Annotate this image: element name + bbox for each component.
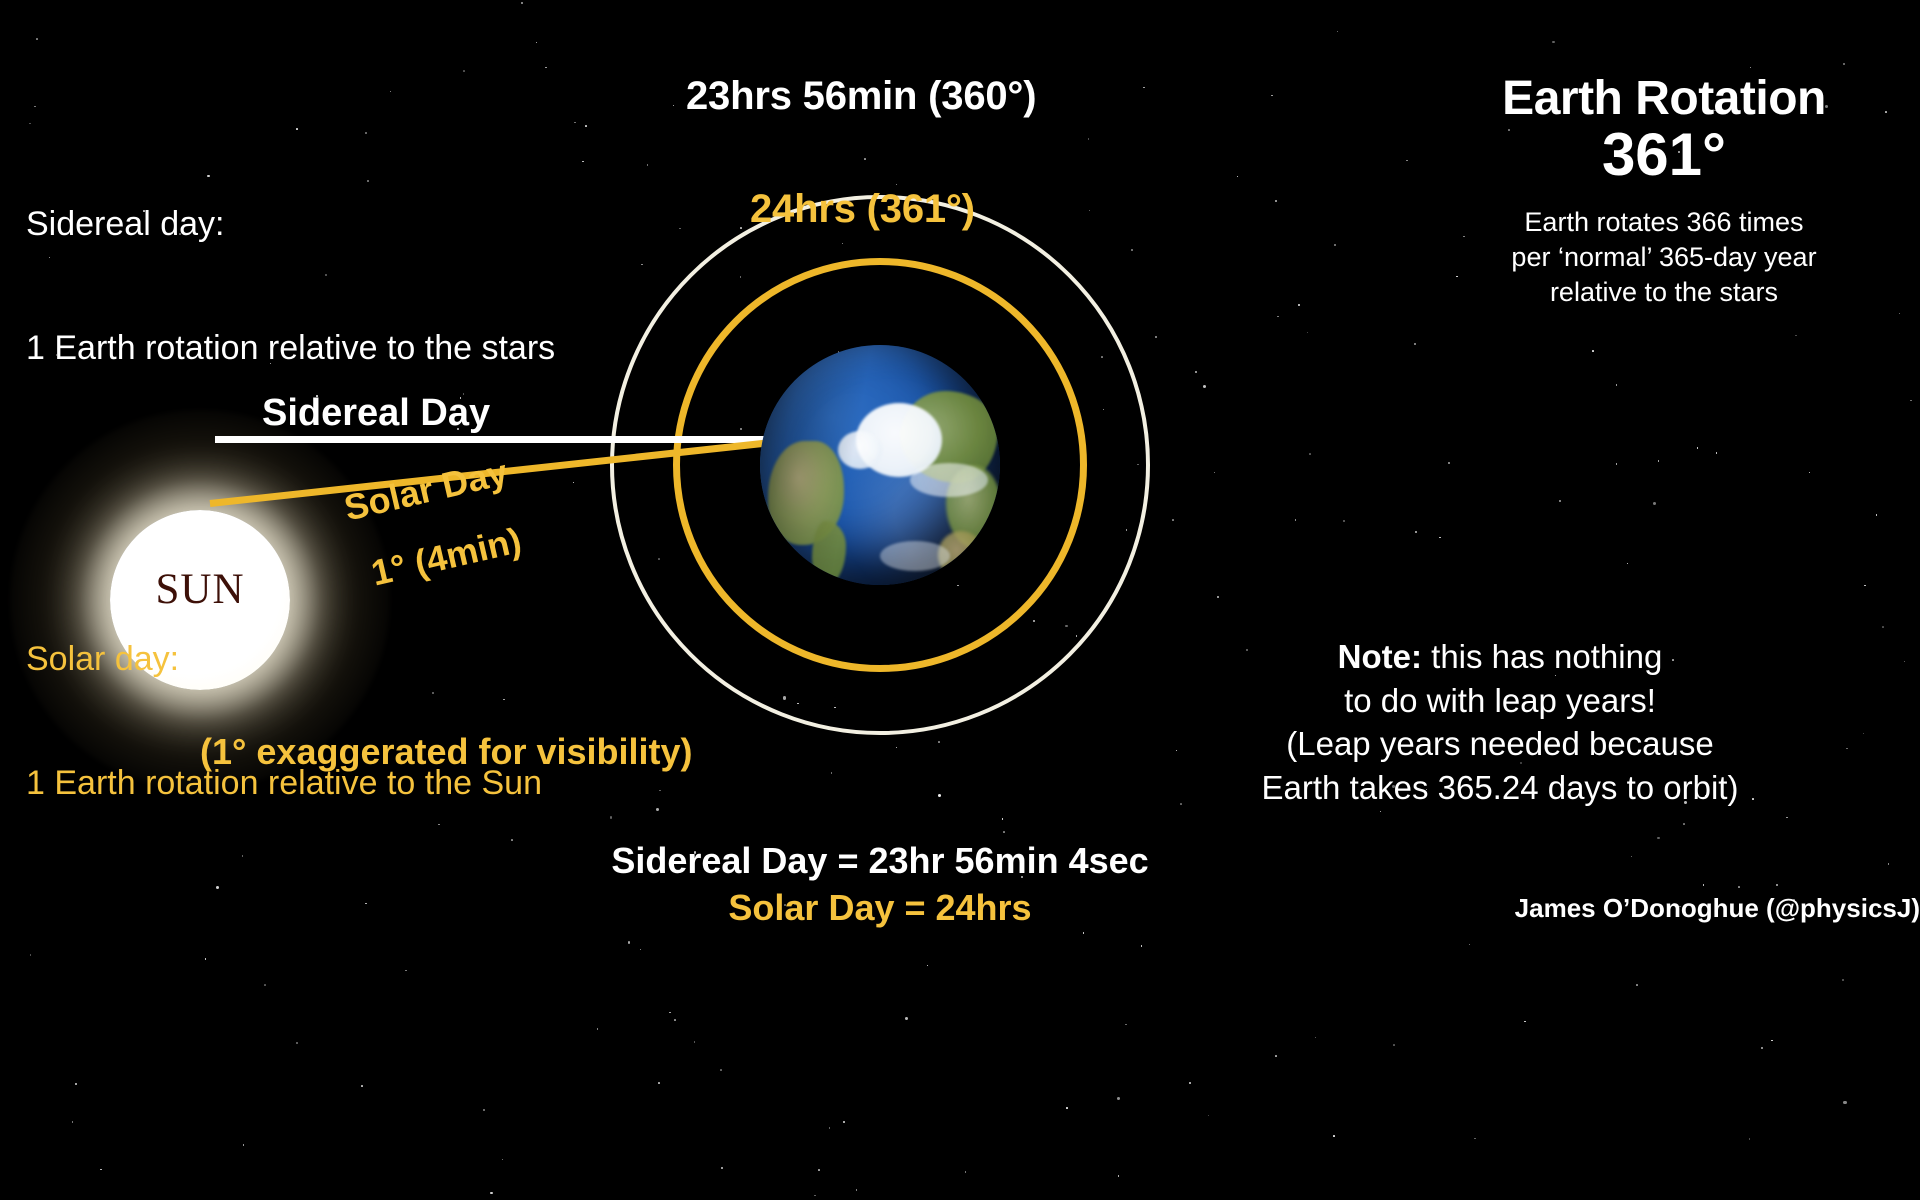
star	[1864, 585, 1866, 587]
star	[1627, 563, 1629, 565]
star	[1683, 823, 1685, 825]
star	[1703, 884, 1705, 886]
note-line1-text: this has nothing	[1422, 638, 1662, 675]
star	[100, 1169, 102, 1171]
solar-ring-label: 24hrs (361°)	[750, 185, 975, 234]
star	[1337, 31, 1339, 33]
star	[1910, 400, 1912, 402]
star	[1843, 63, 1845, 65]
star	[1277, 316, 1279, 318]
star	[1275, 200, 1277, 202]
note-label: Note:	[1338, 638, 1422, 675]
star	[1795, 335, 1797, 337]
sidereal-day-line-label: Sidereal Day	[262, 390, 490, 436]
star	[1657, 837, 1659, 839]
star	[1474, 1138, 1476, 1140]
header-subtitle-line1: Earth rotates 366 times	[1424, 205, 1904, 240]
star	[1189, 1082, 1191, 1084]
star	[965, 1171, 967, 1173]
star	[574, 122, 576, 124]
star	[1439, 537, 1441, 539]
star	[1842, 979, 1844, 981]
note-line3: (Leap years needed because	[1100, 722, 1900, 766]
star	[647, 164, 649, 166]
star	[831, 772, 833, 774]
star	[829, 1127, 831, 1129]
star	[674, 1019, 676, 1021]
summary-block: Sidereal Day = 23hr 56min 4sec Solar Day…	[460, 838, 1300, 932]
star	[1616, 463, 1618, 465]
star	[1559, 500, 1561, 502]
star	[905, 1017, 908, 1020]
star	[673, 105, 675, 107]
star	[1237, 176, 1239, 178]
diagram-canvas: SUN Sidereal day: 1 Earth rotation relat…	[0, 0, 1920, 1200]
summary-sidereal: Sidereal Day = 23hr 56min 4sec	[460, 838, 1300, 885]
star	[818, 1169, 820, 1171]
star	[1448, 462, 1450, 464]
star	[1118, 1175, 1120, 1177]
star	[814, 1195, 816, 1197]
star	[361, 1085, 363, 1087]
header-subtitle: Earth rotates 366 times per ‘normal’ 365…	[1424, 205, 1904, 310]
star	[927, 965, 929, 967]
star	[1636, 984, 1638, 986]
star	[75, 1083, 77, 1085]
star	[1882, 626, 1884, 628]
star	[1761, 1047, 1763, 1049]
star	[1315, 1037, 1317, 1039]
star	[1843, 1101, 1846, 1104]
star	[1343, 520, 1345, 522]
star	[1380, 811, 1382, 813]
star	[1393, 1044, 1395, 1046]
star	[938, 741, 940, 743]
star	[573, 482, 575, 484]
star	[679, 228, 681, 230]
earth-terminator-shadow	[760, 345, 1000, 585]
star	[1309, 453, 1311, 455]
star	[1771, 1040, 1773, 1042]
star	[1653, 502, 1656, 505]
sidereal-definition-body: 1 Earth rotation relative to the stars	[26, 328, 555, 369]
star	[1117, 1097, 1120, 1100]
solar-definition-title: Solar day:	[26, 639, 555, 680]
star	[1088, 138, 1090, 140]
author-credit: James O’Donoghue (@physicsJ)	[1180, 893, 1920, 925]
star	[1214, 472, 1216, 474]
star	[1172, 519, 1174, 521]
star	[1552, 41, 1554, 43]
star	[502, 1159, 504, 1161]
header-subtitle-line2: per ‘normal’ 365-day year	[1424, 240, 1904, 275]
star	[1083, 932, 1085, 934]
star	[1716, 452, 1718, 454]
star	[1697, 447, 1699, 449]
star	[1749, 1138, 1751, 1140]
star	[1143, 87, 1145, 89]
star	[1307, 332, 1309, 334]
star	[1750, 67, 1752, 69]
star	[1616, 384, 1618, 386]
star	[582, 161, 584, 163]
sidereal-definition-title: Sidereal day:	[26, 204, 555, 245]
star	[1333, 1135, 1335, 1137]
star	[1524, 1021, 1526, 1023]
star	[694, 1041, 696, 1043]
star	[296, 1042, 298, 1044]
star	[1406, 160, 1408, 162]
star	[1295, 519, 1297, 521]
star	[72, 1121, 74, 1123]
star	[843, 1121, 845, 1123]
star	[1208, 1115, 1210, 1117]
star	[896, 747, 898, 749]
star	[628, 941, 630, 943]
star	[640, 949, 642, 951]
star	[659, 790, 661, 792]
star	[656, 808, 659, 811]
note-line1: Note: this has nothing	[1100, 635, 1900, 679]
star	[1002, 818, 1004, 820]
star	[1738, 886, 1740, 888]
star	[1195, 371, 1197, 373]
star	[1334, 244, 1336, 246]
star	[658, 1082, 660, 1084]
star	[641, 264, 643, 266]
star	[1592, 350, 1594, 352]
star	[1786, 817, 1788, 819]
star	[1298, 304, 1300, 306]
star	[1415, 531, 1417, 533]
star	[864, 158, 866, 160]
star	[585, 125, 587, 127]
star	[1469, 944, 1471, 946]
star	[1003, 831, 1005, 833]
star	[1131, 249, 1133, 251]
star	[1809, 472, 1811, 474]
star	[597, 1028, 599, 1030]
star	[1066, 1107, 1068, 1109]
summary-solar: Solar Day = 24hrs	[460, 885, 1300, 932]
star	[669, 1012, 671, 1014]
sidereal-ring-label: 23hrs 56min (360°)	[686, 72, 1036, 121]
star	[740, 227, 742, 229]
star	[610, 816, 612, 818]
note-line4: Earth takes 365.24 days to orbit)	[1100, 766, 1900, 810]
star	[1141, 945, 1143, 947]
exaggeration-note: (1° exaggerated for visibility)	[200, 730, 693, 774]
star	[490, 1192, 492, 1194]
star	[1876, 514, 1878, 516]
note-line2: to do with leap years!	[1100, 679, 1900, 723]
star	[483, 1109, 485, 1111]
header-subtitle-line3: relative to the stars	[1424, 275, 1904, 310]
star	[243, 1144, 245, 1146]
star	[1776, 884, 1778, 886]
star	[1271, 95, 1273, 97]
star	[856, 1189, 858, 1191]
star	[1203, 385, 1206, 388]
star	[1888, 863, 1890, 865]
star	[1904, 661, 1906, 663]
earth-globe	[760, 345, 1000, 585]
star	[1217, 596, 1219, 598]
star	[1155, 336, 1157, 338]
star	[720, 1069, 722, 1071]
star	[1414, 343, 1416, 345]
star	[1899, 313, 1901, 315]
star	[938, 794, 941, 797]
star	[1089, 210, 1091, 212]
star	[1125, 1024, 1127, 1026]
star	[1631, 856, 1633, 858]
star	[1658, 460, 1660, 462]
star	[521, 2, 523, 4]
leap-year-note: Note: this has nothing to do with leap y…	[1100, 635, 1900, 809]
rotation-degrees-value: 361°	[1424, 118, 1904, 191]
star	[721, 1167, 723, 1169]
star	[1275, 1055, 1277, 1057]
